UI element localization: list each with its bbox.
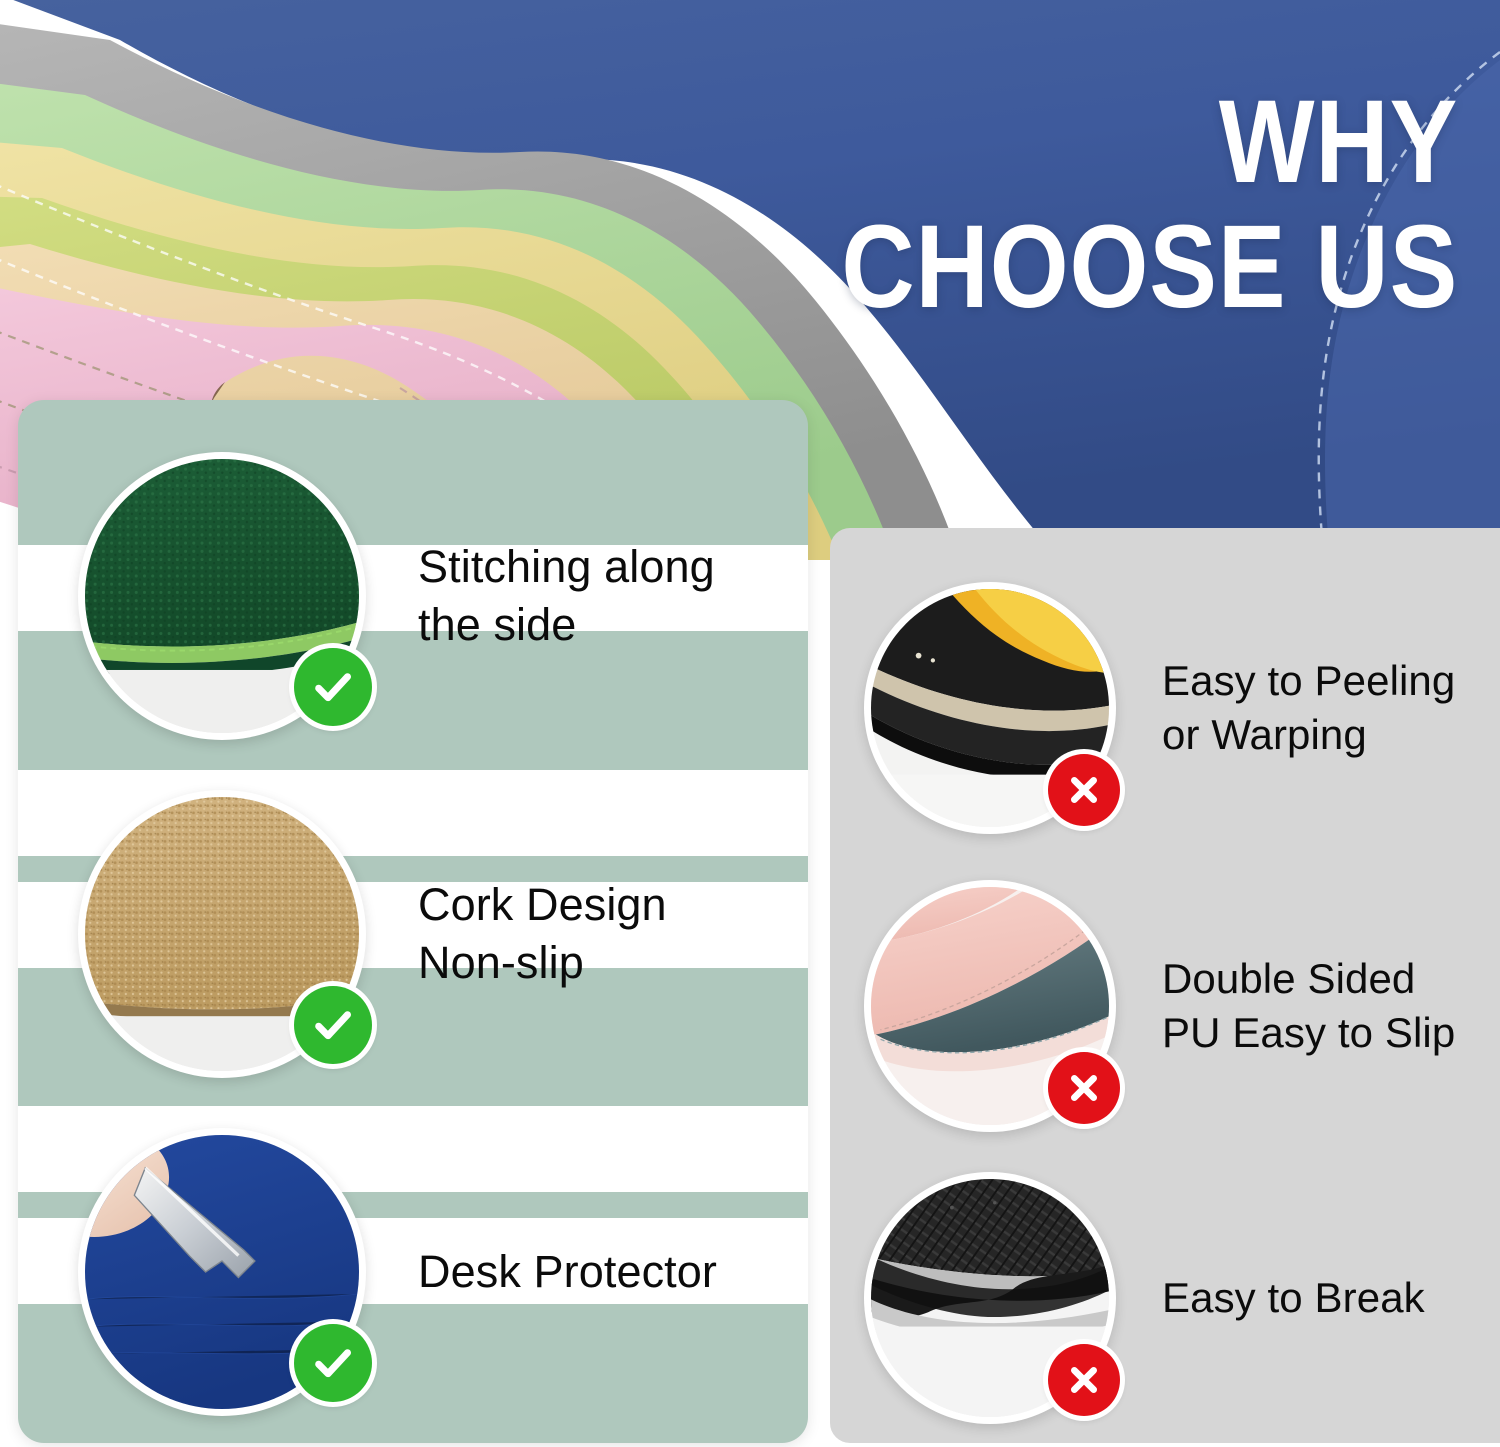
check-icon bbox=[294, 986, 372, 1064]
pros-thumb-1-wrap bbox=[78, 452, 366, 740]
cons-feature-2[interactable]: Double Sided PU Easy to Slip bbox=[864, 880, 1455, 1132]
pros-label-1-line2: the side bbox=[418, 596, 715, 654]
pros-label-2-line1: Cork Design bbox=[418, 876, 667, 934]
check-icon bbox=[294, 1324, 372, 1402]
cross-icon bbox=[1048, 754, 1120, 826]
pros-label-3: Desk Protector bbox=[418, 1243, 717, 1301]
headline-line-1: WHY bbox=[841, 88, 1458, 197]
pros-thumb-3-wrap bbox=[78, 1128, 366, 1416]
headline: WHY CHOOSE US bbox=[741, 88, 1458, 321]
cons-label-2-line2: PU Easy to Slip bbox=[1162, 1006, 1455, 1060]
pros-thumb-2-wrap bbox=[78, 790, 366, 1078]
pros-feature-2[interactable]: Cork Design Non-slip bbox=[78, 790, 667, 1078]
cons-label-3-line1: Easy to Break bbox=[1162, 1271, 1425, 1325]
cons-thumb-3-wrap bbox=[864, 1172, 1116, 1424]
pros-label-3-line1: Desk Protector bbox=[418, 1243, 717, 1301]
cons-thumb-2-wrap bbox=[864, 880, 1116, 1132]
cons-feature-1[interactable]: Easy to Peeling or Warping bbox=[864, 582, 1455, 834]
pros-label-1: Stitching along the side bbox=[418, 538, 715, 653]
cons-label-2: Double Sided PU Easy to Slip bbox=[1162, 952, 1455, 1060]
cons-label-1-line2: or Warping bbox=[1162, 708, 1455, 762]
infographic-root: WHY CHOOSE US bbox=[0, 0, 1500, 1447]
cons-label-2-line1: Double Sided bbox=[1162, 952, 1455, 1006]
check-icon bbox=[294, 648, 372, 726]
cross-icon bbox=[1048, 1052, 1120, 1124]
cross-icon bbox=[1048, 1344, 1120, 1416]
cons-label-1: Easy to Peeling or Warping bbox=[1162, 654, 1455, 762]
pros-label-2-line2: Non-slip bbox=[418, 934, 667, 992]
cons-label-1-line1: Easy to Peeling bbox=[1162, 654, 1455, 708]
cons-label-3: Easy to Break bbox=[1162, 1271, 1425, 1325]
pros-feature-3[interactable]: Desk Protector bbox=[78, 1128, 717, 1416]
cons-thumb-1-wrap bbox=[864, 582, 1116, 834]
pros-feature-1[interactable]: Stitching along the side bbox=[78, 452, 715, 740]
pros-label-1-line1: Stitching along bbox=[418, 538, 715, 596]
headline-line-2: CHOOSE US bbox=[841, 213, 1458, 322]
pros-label-2: Cork Design Non-slip bbox=[418, 876, 667, 991]
cons-feature-3[interactable]: Easy to Break bbox=[864, 1172, 1425, 1424]
